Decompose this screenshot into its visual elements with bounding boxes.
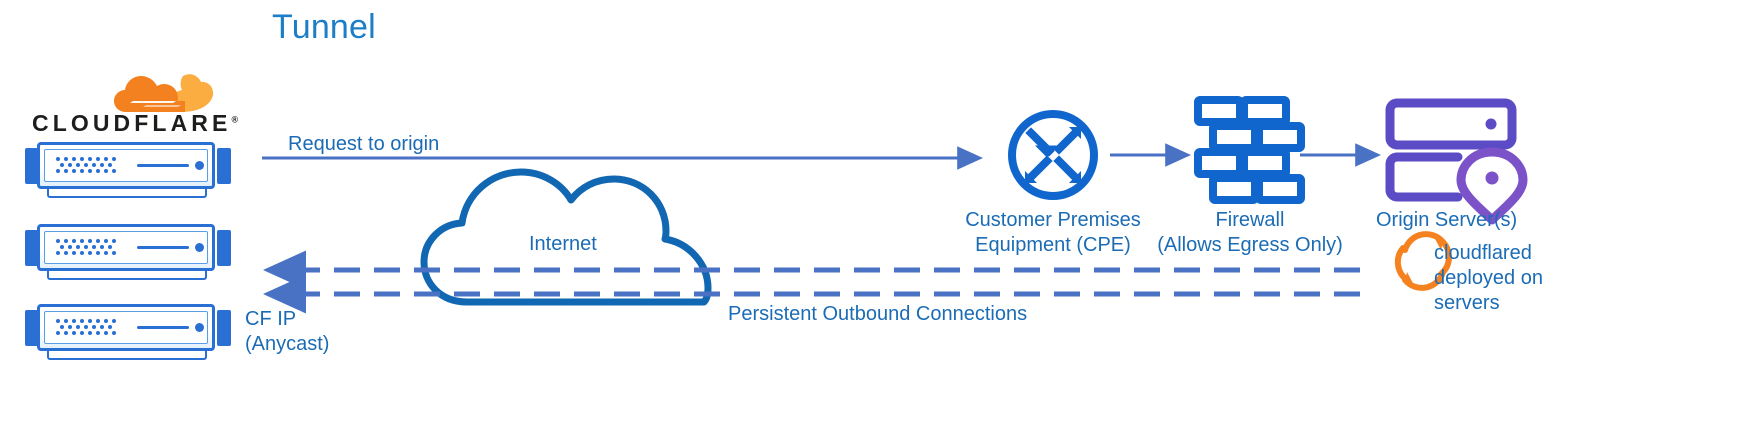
origin-servers-label: Origin Server(s) xyxy=(1376,208,1517,233)
brick-wall-icon xyxy=(1198,100,1301,200)
firewall-label: Firewall (Allows Egress Only) xyxy=(1157,208,1343,258)
firewall-label-line2: (Allows Egress Only) xyxy=(1157,233,1343,258)
cloudflared-annotation-label: cloudflared deployed on servers xyxy=(1434,241,1543,316)
cpe-label-line1: Customer Premises xyxy=(965,208,1141,233)
inward-arrows-circle-icon xyxy=(1012,114,1094,196)
cloudflared-line2: deployed on xyxy=(1434,266,1543,291)
cpe-label: Customer Premises Equipment (CPE) xyxy=(965,208,1141,258)
cf-ip-label-line2: (Anycast) xyxy=(245,332,329,357)
server-rack-pin-icon xyxy=(1390,103,1523,220)
cloudflared-line3: servers xyxy=(1434,291,1543,316)
cloudflared-line1: cloudflared xyxy=(1434,241,1543,266)
cpe-label-line2: Equipment (CPE) xyxy=(965,233,1141,258)
request-to-origin-label: Request to origin xyxy=(288,132,439,157)
persistent-outbound-connections-label: Persistent Outbound Connections xyxy=(728,302,1027,327)
cf-ip-label: CF IP (Anycast) xyxy=(245,307,329,357)
cf-ip-label-line1: CF IP xyxy=(245,307,329,332)
firewall-label-line1: Firewall xyxy=(1157,208,1343,233)
internet-label: Internet xyxy=(529,232,597,257)
tunnel-diagram: Tunnel CLOUDFLARE® xyxy=(0,0,1754,422)
